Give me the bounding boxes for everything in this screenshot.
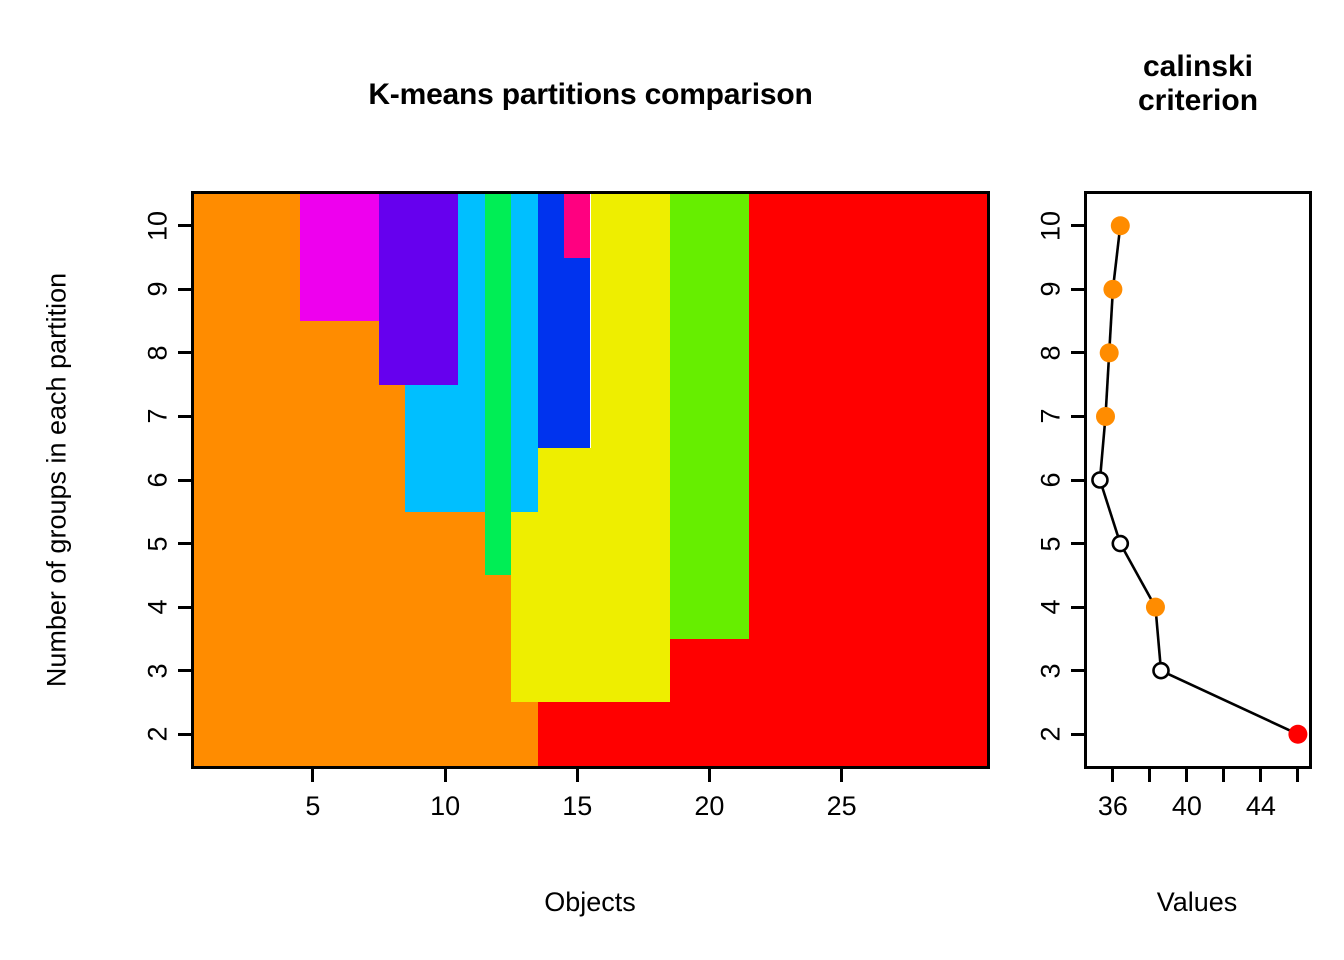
right-plot-title-line1: calinski [1084, 50, 1312, 84]
left-ytick [178, 542, 191, 545]
cluster-band-red [749, 321, 987, 385]
left-xtick [311, 769, 314, 782]
cluster-band-red [749, 385, 987, 449]
left-ytick [178, 224, 191, 227]
cluster-band-deep-sky-blue [511, 448, 537, 512]
cluster-band-deep-sky-blue [405, 448, 484, 512]
left-ytick-label: 8 [143, 345, 174, 360]
left-ytick [178, 351, 191, 354]
right-xtick-label: 40 [1172, 791, 1202, 822]
calinski-point-k9 [1103, 280, 1122, 299]
left-xtick [840, 769, 843, 782]
cluster-band-magenta [300, 194, 379, 258]
calinski-point-k8 [1100, 343, 1119, 362]
cluster-band-spring-green [485, 258, 511, 322]
right-ytick [1071, 669, 1084, 672]
right-ytick-label: 10 [1036, 211, 1067, 241]
partition-row-k6 [194, 448, 987, 512]
cluster-band-deep-sky-blue [511, 258, 537, 322]
cluster-band-pink [564, 194, 590, 258]
right-ytick-label: 3 [1036, 663, 1067, 678]
right-ytick-label: 9 [1036, 282, 1067, 297]
calinski-line-segment [1100, 416, 1106, 480]
calinski-line-segment [1120, 544, 1155, 608]
calinski-line-segment [1155, 607, 1161, 671]
cluster-band-red [749, 258, 987, 322]
left-ytick-label: 4 [143, 600, 174, 615]
left-xtick [444, 769, 447, 782]
calinski-point-k3 [1154, 663, 1169, 678]
right-xtick [1185, 769, 1188, 782]
cluster-band-yellow [591, 258, 670, 322]
right-xtick [1222, 769, 1225, 782]
cluster-band-red [749, 575, 987, 639]
left-ytick [178, 733, 191, 736]
cluster-band-lawn-green [670, 575, 749, 639]
calinski-point-k4 [1146, 598, 1165, 617]
cluster-band-red [749, 448, 987, 512]
right-xtick [1296, 769, 1299, 782]
calinski-point-k2 [1288, 725, 1307, 744]
partition-row-k9 [194, 258, 987, 322]
right-xtick [1148, 769, 1151, 782]
left-ytick-label: 3 [143, 663, 174, 678]
right-ytick [1071, 733, 1084, 736]
cluster-band-lawn-green [670, 321, 749, 385]
left-ytick [178, 479, 191, 482]
cluster-band-yellow [591, 194, 670, 258]
cluster-band-lawn-green [670, 258, 749, 322]
left-xtick-label: 25 [827, 791, 857, 822]
cluster-band-yellow [511, 512, 670, 576]
cluster-band-violet [379, 258, 458, 322]
left-xtick-label: 5 [305, 791, 320, 822]
cluster-band-violet [379, 194, 458, 258]
cluster-band-deep-sky-blue [511, 321, 537, 385]
calinski-line-segment [1161, 671, 1298, 735]
cluster-band-deep-sky-blue [511, 385, 537, 449]
left-ytick [178, 606, 191, 609]
calinski-line-segment [1109, 289, 1113, 353]
cluster-band-lawn-green [670, 385, 749, 449]
cluster-band-orange [194, 321, 379, 385]
main-plot-title: K-means partitions comparison [191, 78, 990, 112]
calinski-line-segment [1113, 226, 1120, 290]
cluster-band-orange [194, 385, 405, 449]
right-plot-title-line2: criterion [1084, 84, 1312, 118]
cluster-band-deep-sky-blue [458, 321, 484, 385]
cluster-band-deep-sky-blue [405, 385, 484, 449]
cluster-band-orange [194, 448, 405, 512]
right-ytick-label: 8 [1036, 345, 1067, 360]
calinski-point-k7 [1096, 407, 1115, 426]
partitions-plot-area [194, 194, 987, 766]
cluster-band-blue [538, 321, 591, 385]
cluster-band-red [749, 512, 987, 576]
right-xtick-label: 44 [1246, 791, 1276, 822]
left-ytick-label: 6 [143, 472, 174, 487]
cluster-band-spring-green [485, 194, 511, 258]
partition-row-k3 [194, 639, 987, 703]
calinski-point-k6 [1092, 473, 1107, 488]
left-ytick [178, 669, 191, 672]
right-ytick [1071, 224, 1084, 227]
right-xtick [1111, 769, 1114, 782]
cluster-band-spring-green [485, 448, 511, 512]
cluster-band-violet [379, 321, 458, 385]
cluster-band-spring-green [485, 385, 511, 449]
left-ytick-label: 7 [143, 409, 174, 424]
right-xtick-label: 36 [1098, 791, 1128, 822]
partition-row-k2 [194, 702, 987, 766]
left-ytick-label: 5 [143, 536, 174, 551]
left-ytick-label: 9 [143, 282, 174, 297]
right-ytick [1071, 542, 1084, 545]
cluster-band-deep-sky-blue [458, 194, 484, 258]
cluster-band-orange [194, 702, 538, 766]
cluster-band-yellow [511, 575, 670, 639]
cluster-band-blue [538, 385, 591, 449]
cluster-band-yellow [591, 385, 670, 449]
cluster-band-lawn-green [670, 194, 749, 258]
cluster-band-orange [194, 194, 300, 258]
cluster-band-lawn-green [670, 512, 749, 576]
cluster-band-magenta [300, 258, 379, 322]
calinski-plot-panel [1084, 191, 1312, 769]
calinski-point-k5 [1113, 536, 1128, 551]
cluster-band-spring-green [485, 512, 511, 576]
cluster-band-red [749, 194, 987, 258]
right-xaxis-title: Values [1157, 887, 1238, 918]
left-xtick [708, 769, 711, 782]
right-ytick [1071, 606, 1084, 609]
calinski-line-segment [1100, 480, 1120, 544]
calinski-point-k10 [1111, 216, 1130, 235]
left-xtick-label: 15 [562, 791, 592, 822]
cluster-band-deep-sky-blue [458, 258, 484, 322]
left-xtick-label: 10 [430, 791, 460, 822]
left-ytick-label: 2 [143, 727, 174, 742]
cluster-band-lawn-green [670, 448, 749, 512]
left-yaxis-title: Number of groups in each partition [42, 273, 73, 687]
partition-row-k10 [194, 194, 987, 258]
right-ytick-label: 7 [1036, 409, 1067, 424]
right-xtick [1259, 769, 1262, 782]
cluster-band-spring-green [485, 321, 511, 385]
left-xaxis-title: Objects [544, 887, 636, 918]
partitions-plot-panel [191, 191, 990, 769]
left-ytick [178, 415, 191, 418]
right-ytick [1071, 351, 1084, 354]
cluster-band-blue [538, 194, 564, 258]
right-ytick-label: 4 [1036, 600, 1067, 615]
partition-row-k7 [194, 385, 987, 449]
partition-row-k4 [194, 575, 987, 639]
cluster-band-orange [194, 575, 511, 639]
cluster-band-orange [194, 512, 485, 576]
left-xtick [576, 769, 579, 782]
cluster-band-yellow [538, 448, 670, 512]
cluster-band-yellow [511, 639, 670, 703]
right-ytick-label: 2 [1036, 727, 1067, 742]
right-ytick-label: 6 [1036, 472, 1067, 487]
partition-row-k8 [194, 321, 987, 385]
figure-canvas: K-means partitions comparison calinski c… [0, 0, 1344, 960]
cluster-band-orange [194, 258, 300, 322]
calinski-series-svg [1087, 194, 1309, 766]
partition-row-k5 [194, 512, 987, 576]
right-ytick [1071, 288, 1084, 291]
cluster-band-red [538, 702, 987, 766]
cluster-band-deep-sky-blue [511, 194, 537, 258]
right-ytick-label: 5 [1036, 536, 1067, 551]
left-ytick-label: 10 [143, 211, 174, 241]
cluster-band-yellow [591, 321, 670, 385]
left-xtick-label: 20 [694, 791, 724, 822]
right-plot-title: calinski criterion [1084, 50, 1312, 117]
right-ytick [1071, 415, 1084, 418]
calinski-line-segment [1106, 353, 1110, 417]
left-ytick [178, 288, 191, 291]
cluster-band-blue [538, 258, 591, 322]
cluster-band-orange [194, 639, 511, 703]
cluster-band-red [670, 639, 987, 703]
right-ytick [1071, 479, 1084, 482]
